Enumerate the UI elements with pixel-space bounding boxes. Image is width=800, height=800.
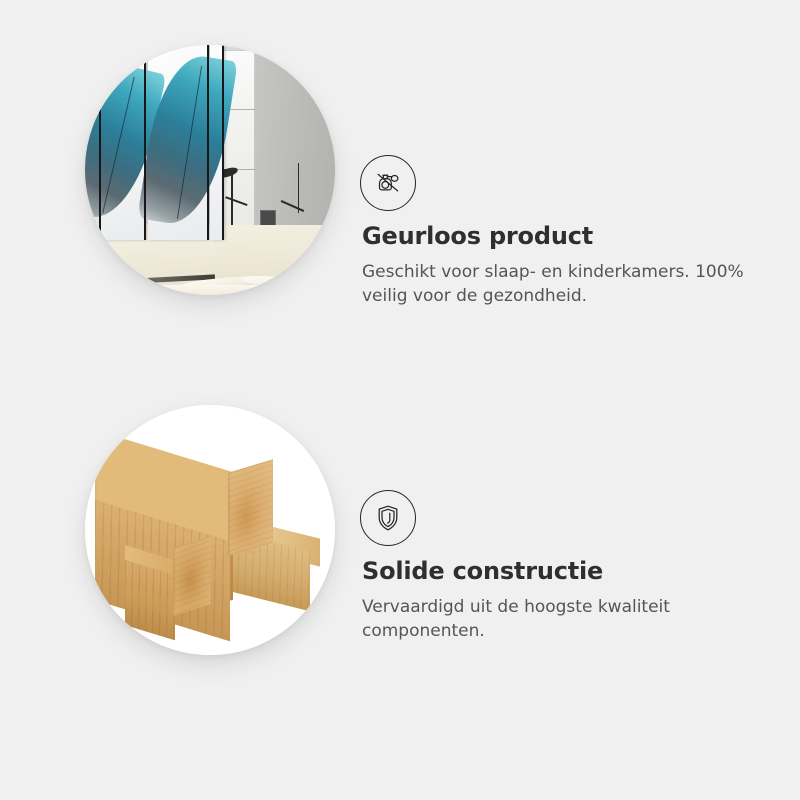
duvet bbox=[97, 285, 329, 295]
feature-title: Geurloos product bbox=[362, 223, 593, 251]
feather-wall-art-bedroom-photo bbox=[85, 45, 335, 295]
wood-beam-end-grain bbox=[228, 459, 273, 555]
feature-image-wooden-beams bbox=[85, 405, 335, 655]
feature-block-scent-free: Geurloos product Geschikt voor slaap- en… bbox=[0, 20, 800, 380]
feature-description: Vervaardigd uit de hoogste kwaliteit com… bbox=[362, 595, 752, 643]
art-panel-divider bbox=[144, 45, 146, 240]
wall-lamp-stem bbox=[298, 163, 300, 213]
feature-description: Geschikt voor slaap- en kinderkamers. 10… bbox=[362, 260, 752, 308]
shield-icon bbox=[360, 490, 416, 546]
art-panel-divider bbox=[222, 45, 224, 240]
art-panel-divider bbox=[207, 45, 209, 240]
feature-image-feather-wall-art bbox=[85, 45, 335, 295]
art-panel-divider bbox=[99, 45, 101, 240]
feature-block-solid-construction: Solide constructie Vervaardigd uit de ho… bbox=[0, 380, 800, 740]
product-features-page: Geurloos product Geschikt voor slaap- en… bbox=[0, 0, 800, 800]
feature-title: Solide constructie bbox=[362, 558, 603, 586]
wood-block-front-face bbox=[125, 560, 175, 640]
no-perfume-icon bbox=[360, 155, 416, 211]
wood-block-end-grain bbox=[173, 536, 211, 615]
wooden-beams-photo bbox=[85, 405, 335, 655]
